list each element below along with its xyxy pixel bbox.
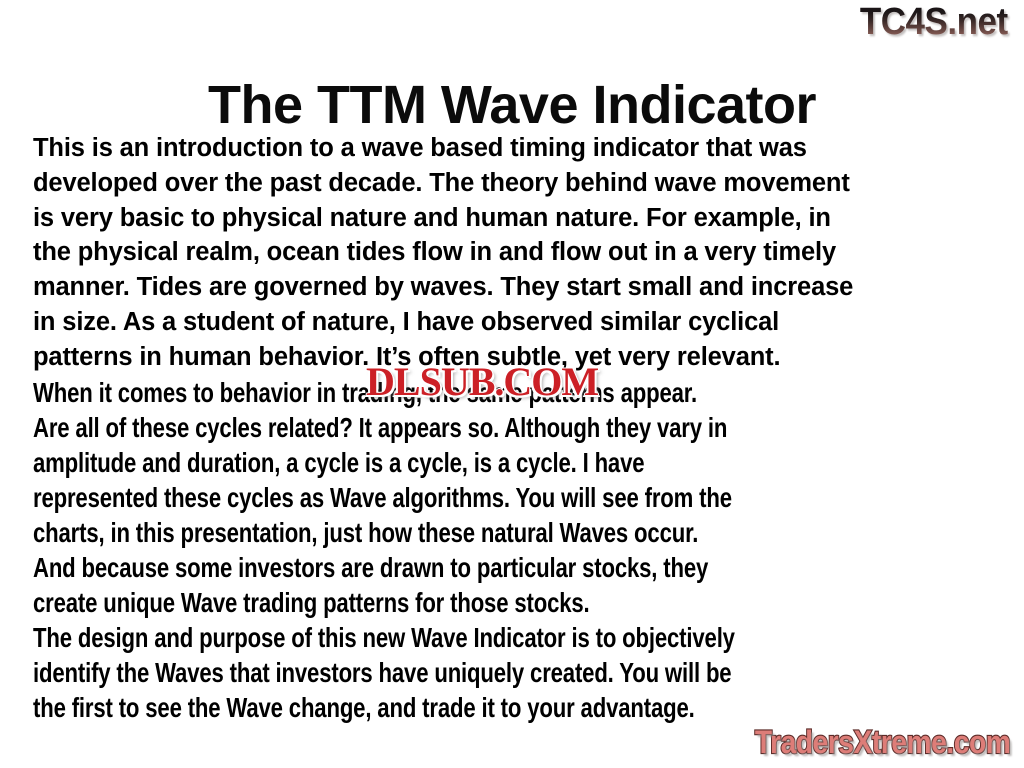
body-line: This is an introduction to a wave based … bbox=[33, 131, 1001, 166]
body-line: When it comes to behavior in trading, th… bbox=[33, 375, 812, 410]
body-line: is very basic to physical nature and hum… bbox=[33, 201, 1001, 236]
body-line: And because some investors are drawn to … bbox=[33, 550, 812, 585]
presentation-slide: TC4S.net The TTM Wave Indicator This is … bbox=[0, 0, 1024, 768]
body-paragraph-narrow: When it comes to behavior in trading, th… bbox=[33, 375, 1001, 725]
body-line: Are all of these cycles related? It appe… bbox=[33, 410, 812, 445]
body-line: patterns in human behavior. It’s often s… bbox=[33, 340, 1001, 375]
body-line: the first to see the Wave change, and tr… bbox=[33, 690, 812, 725]
slide-body-text: This is an introduction to a wave based … bbox=[33, 131, 1001, 725]
body-line: create unique Wave trading patterns for … bbox=[33, 585, 812, 620]
body-line: amplitude and duration, a cycle is a cyc… bbox=[33, 445, 812, 480]
body-line: manner. Tides are governed by waves. The… bbox=[33, 270, 1001, 305]
body-line: the physical realm, ocean tides flow in … bbox=[33, 235, 1001, 270]
body-line: identify the Waves that investors have u… bbox=[33, 655, 812, 690]
body-line: developed over the past decade. The theo… bbox=[33, 166, 1001, 201]
page-title: The TTM Wave Indicator bbox=[0, 74, 1024, 136]
body-line: The design and purpose of this new Wave … bbox=[33, 620, 812, 655]
body-line: in size. As a student of nature, I have … bbox=[33, 305, 1001, 340]
body-line: charts, in this presentation, just how t… bbox=[33, 515, 812, 550]
tc4s-brand-logo: TC4S.net bbox=[860, 2, 1008, 42]
tradersxtreme-brand-logo: TradersXtreme.com bbox=[755, 724, 1010, 760]
body-line: represented these cycles as Wave algorit… bbox=[33, 480, 812, 515]
body-paragraph-wide: This is an introduction to a wave based … bbox=[33, 131, 1001, 375]
